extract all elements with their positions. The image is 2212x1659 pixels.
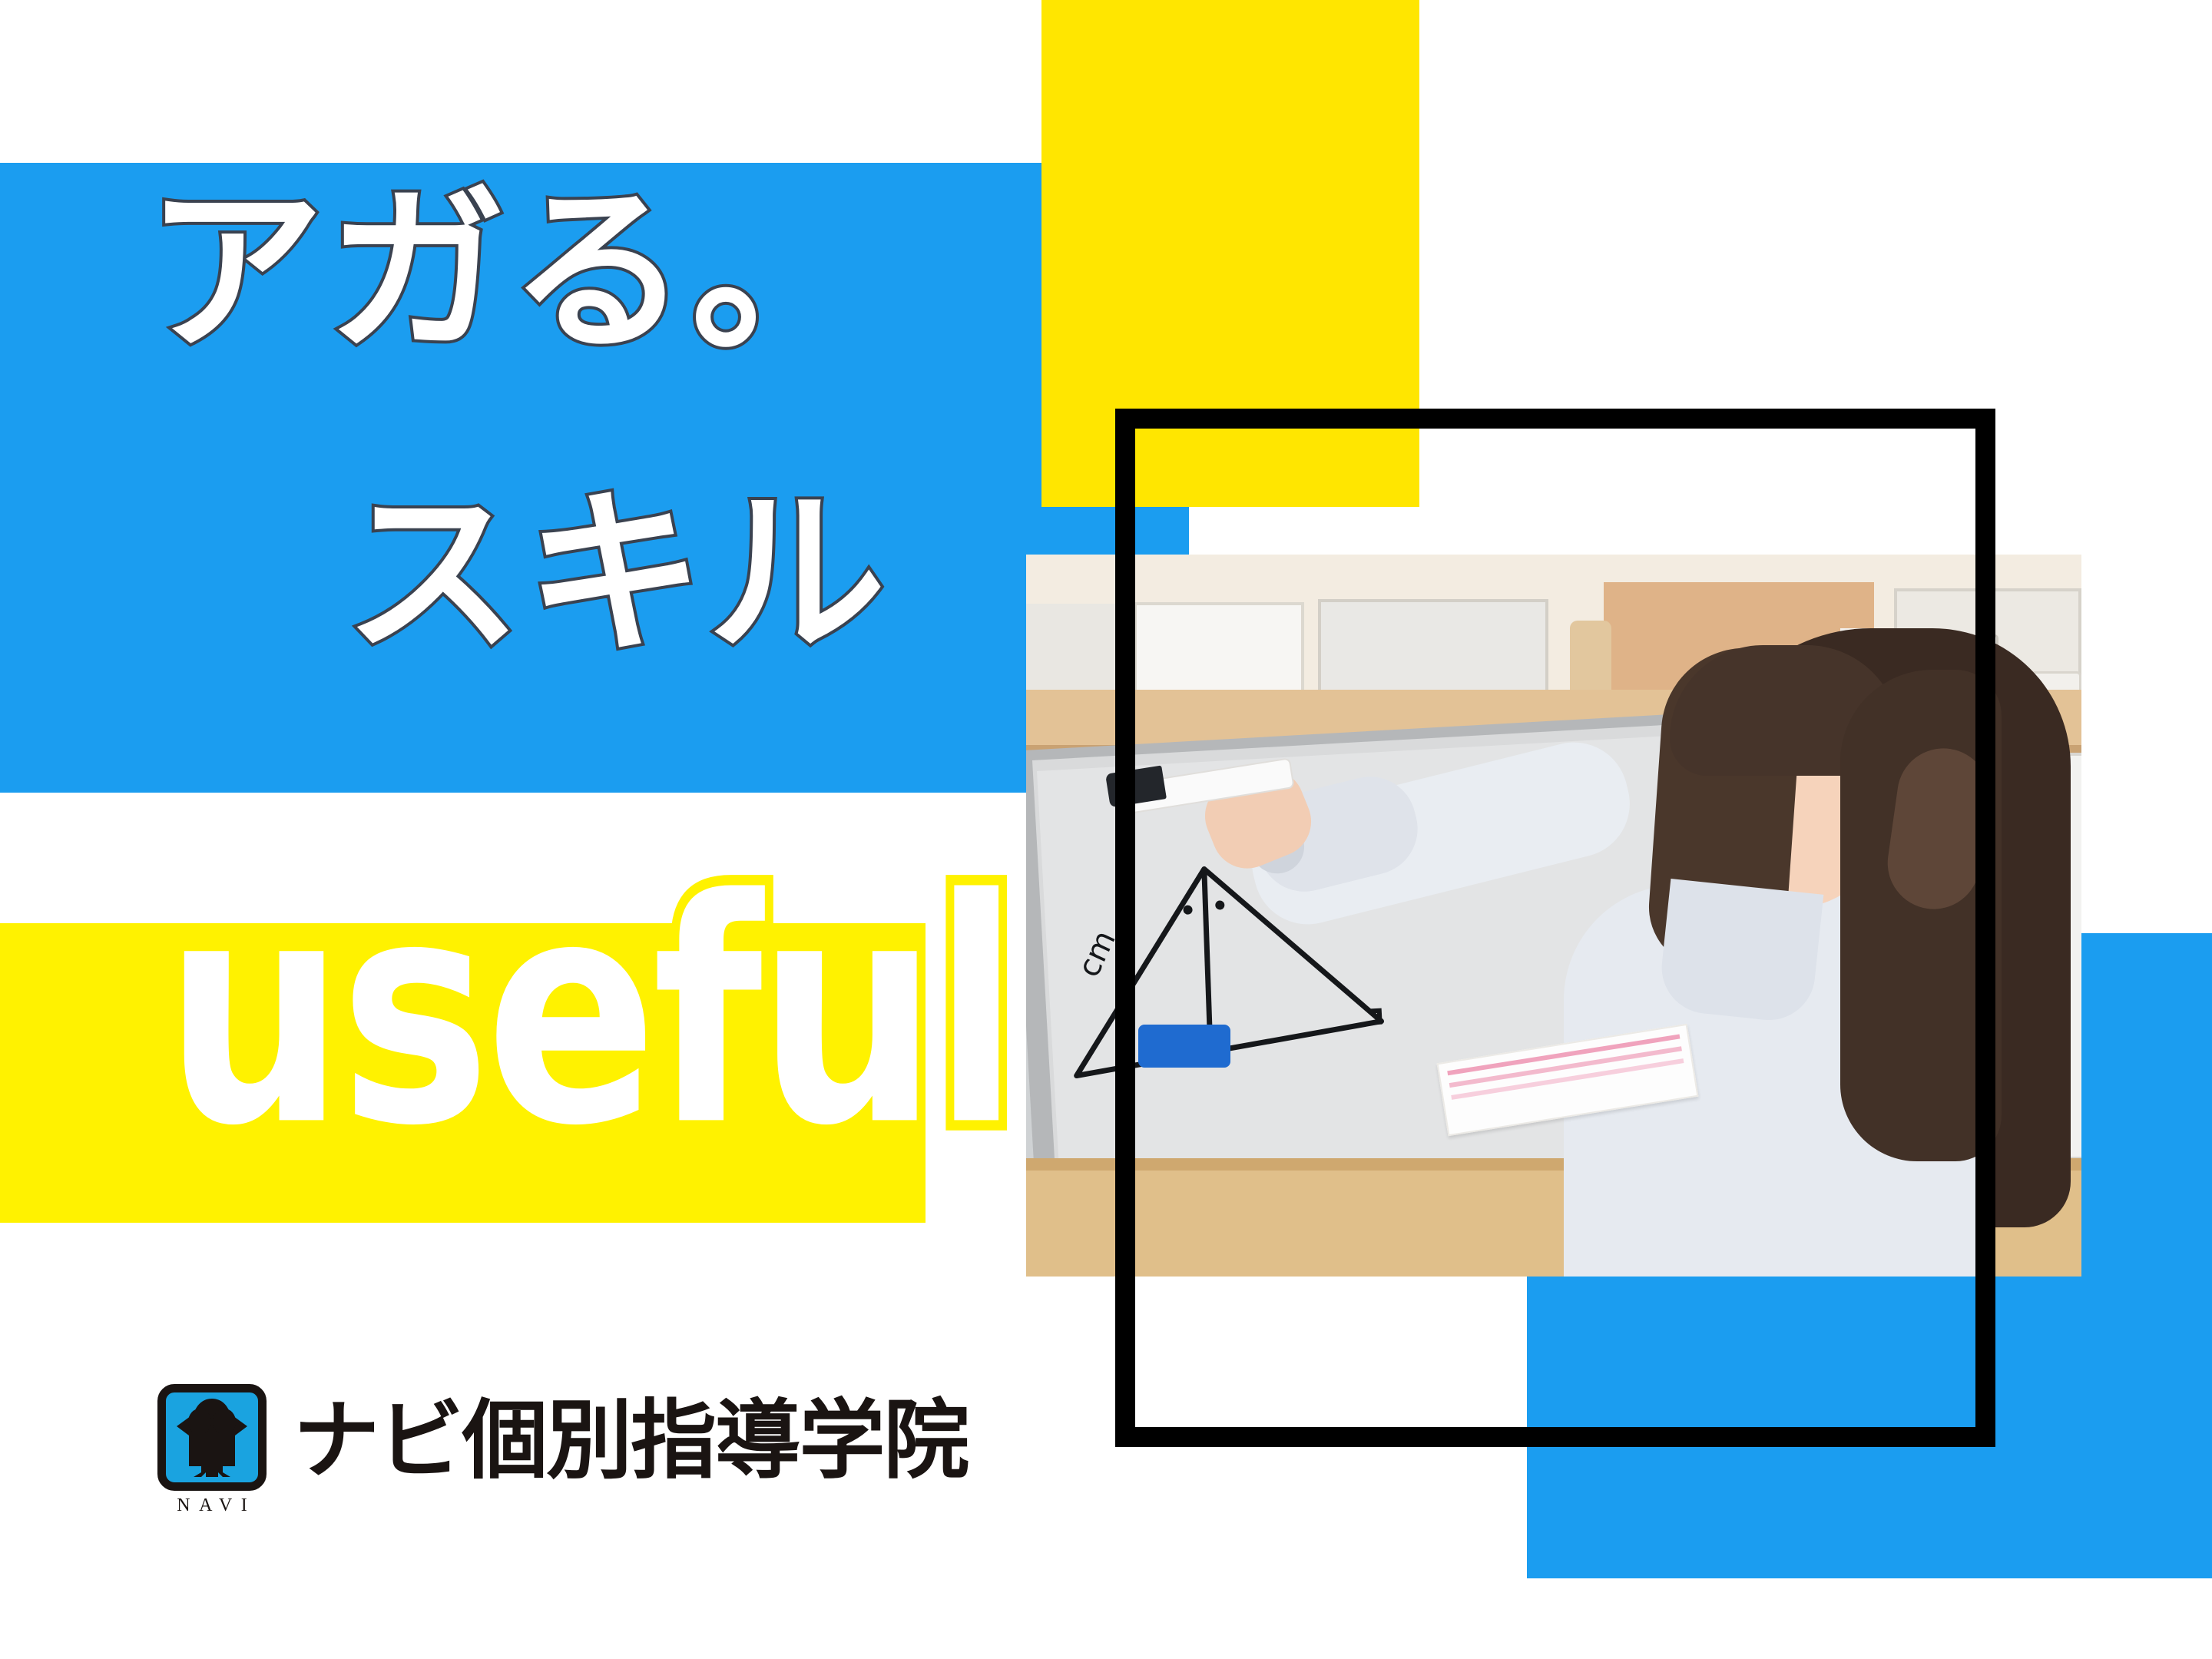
classroom-photo: B 6cm cm 学生の皆さんへ 別の成績アップ戦略は 3回くり返し」! テス: [1026, 555, 2081, 1277]
navi-mascot-icon: NAVI: [154, 1384, 270, 1516]
headline-line-1: アガる。: [146, 183, 873, 361]
subhead-useful: useful: [164, 859, 1015, 1168]
photo-student-hair-front: [1840, 670, 2002, 1161]
brand-logo: NAVI ナビ個別指導学院: [154, 1384, 968, 1516]
photo-blue-tray-2: [1138, 1025, 1230, 1068]
yellow-block-top: [1041, 0, 1419, 507]
photo-student-collar: [1657, 879, 1824, 1025]
navi-caption: NAVI: [168, 1495, 257, 1516]
poster-canvas: アガる。 スキル useful B 6cm cm: [0, 0, 2212, 1659]
brand-name: ナビ個別指導学院: [293, 1398, 968, 1484]
headline-line-2: スキル: [344, 485, 889, 664]
svg-text:cm: cm: [1071, 926, 1123, 983]
